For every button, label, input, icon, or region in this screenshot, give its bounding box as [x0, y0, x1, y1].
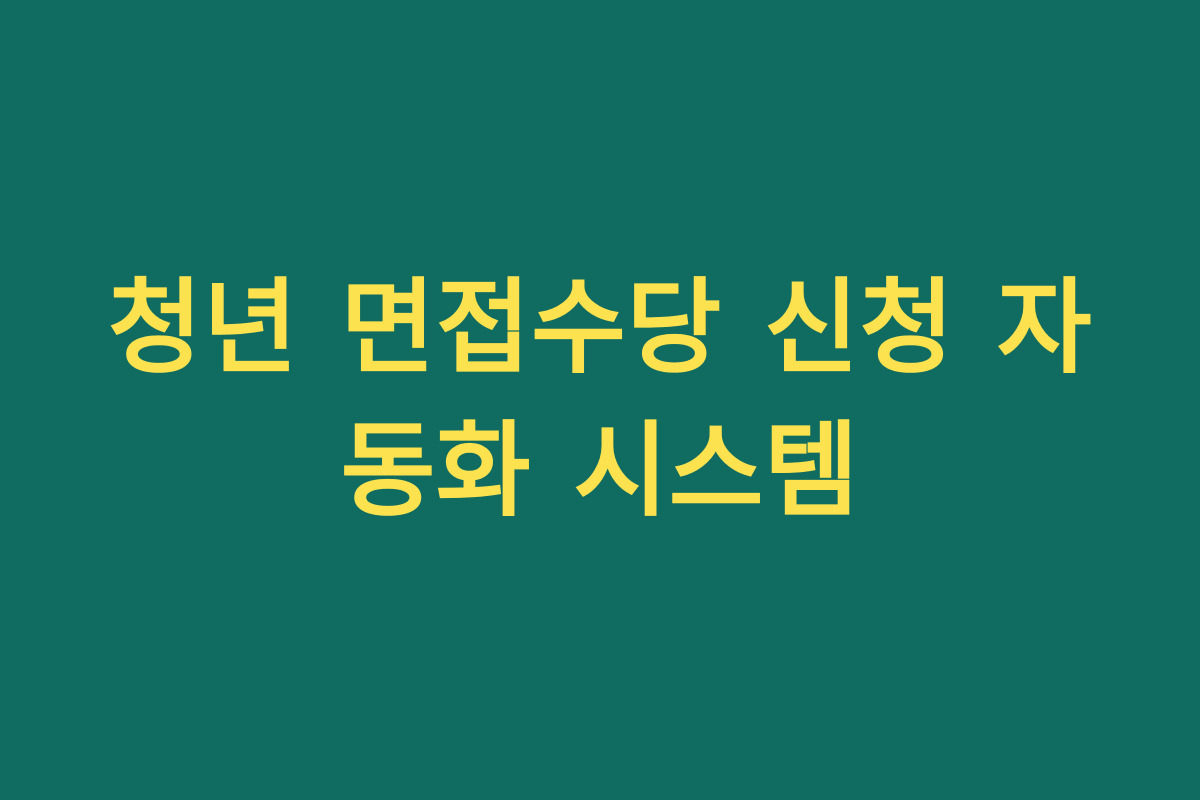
- title-block: 청년 면접수당 신청 자동화 시스템: [85, 257, 1115, 543]
- banner-title: 청년 면접수당 신청 자동화 시스템: [85, 257, 1115, 543]
- banner-canvas: 청년 면접수당 신청 자동화 시스템: [0, 0, 1200, 800]
